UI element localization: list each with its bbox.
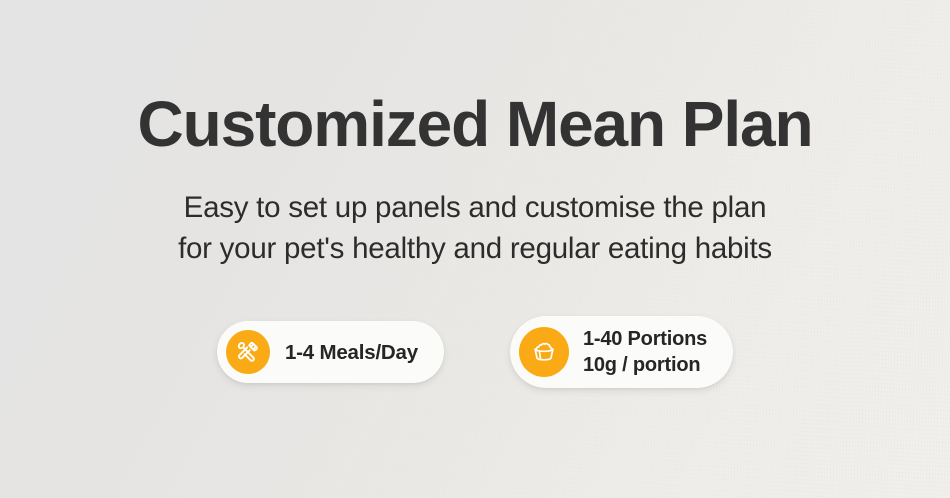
badge-portions-line-2: 10g / portion [583, 352, 707, 378]
badge-portions-line-1: 1-40 Portions [583, 326, 707, 352]
badge-meals-line-1: 1-4 Meals/Day [285, 339, 418, 366]
subtitle: Easy to set up panels and customise the … [178, 187, 772, 269]
subtitle-line-2: for your pet's healthy and regular eatin… [178, 228, 772, 269]
badge-meals-per-day[interactable]: 1-4 Meals/Day [217, 321, 444, 383]
badge-row: 1-4 Meals/Day 1-40 Portions 10g / porti [217, 316, 733, 388]
subtitle-line-1: Easy to set up panels and customise the … [178, 187, 772, 228]
badge-portions[interactable]: 1-40 Portions 10g / portion [510, 316, 733, 388]
page-title: Customized Mean Plan [137, 92, 812, 156]
badge-portions-text: 1-40 Portions 10g / portion [583, 326, 707, 378]
pet-food-bowl-icon [519, 327, 569, 377]
badge-meals-text: 1-4 Meals/Day [285, 339, 418, 366]
hero-banner: Customized Mean Plan Easy to set up pane… [0, 0, 950, 498]
crossed-utensils-icon [226, 330, 270, 374]
